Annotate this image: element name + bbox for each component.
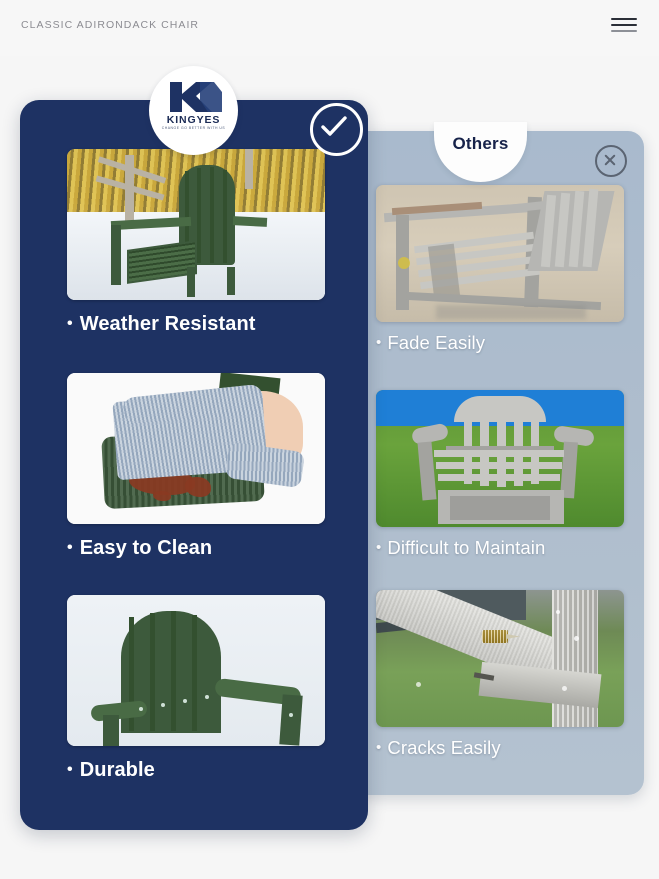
- close-circle-icon: [595, 145, 627, 177]
- feature-photo-durable: [67, 595, 325, 746]
- bullet-dot: •: [376, 739, 381, 756]
- hamburger-menu-icon[interactable]: [611, 18, 637, 34]
- check-circle-icon: [310, 103, 363, 156]
- label-text: Easy to Clean: [80, 537, 212, 559]
- list-item[interactable]: •Difficult to Maintain: [376, 390, 624, 559]
- bullet-dot: •: [67, 315, 73, 332]
- list-item[interactable]: •Fade Easily: [376, 185, 624, 354]
- others-panel: •Fade Easily: [351, 131, 644, 795]
- label-text: Cracks Easily: [387, 737, 500, 758]
- label-text: Weather Resistant: [80, 313, 256, 335]
- brand-logo-badge: KINGYES CHANGE GO BETTER WITH US: [149, 66, 238, 155]
- feature-photo-weather: [67, 149, 325, 300]
- list-item[interactable]: •Durable: [67, 595, 325, 782]
- product-comparison-page: CLASSIC ADIRONDACK CHAIR: [0, 0, 659, 879]
- kingyes-panel: •Weather Resistant: [20, 100, 368, 830]
- bullet-dot: •: [67, 761, 73, 778]
- feature-label: •Durable: [67, 759, 325, 782]
- list-item[interactable]: •Easy to Clean: [67, 373, 325, 560]
- others-tab-label: Others: [453, 134, 509, 154]
- others-feature-label: •Cracks Easily: [376, 737, 624, 759]
- others-photo-cracks: [376, 590, 624, 727]
- others-feature-label: •Fade Easily: [376, 332, 624, 354]
- label-text: Durable: [80, 759, 155, 781]
- brand-name: KINGYES: [149, 114, 238, 126]
- kingyes-monogram-icon: [166, 80, 222, 114]
- feature-label: •Easy to Clean: [67, 537, 325, 560]
- list-item[interactable]: •Cracks Easily: [376, 590, 624, 759]
- brand-tagline: CHANGE GO BETTER WITH US: [149, 126, 238, 130]
- label-text: Difficult to Maintain: [387, 537, 545, 558]
- others-photo-fade: [376, 185, 624, 322]
- label-text: Fade Easily: [387, 332, 485, 353]
- feature-label: •Weather Resistant: [67, 313, 325, 336]
- feature-photo-clean: [67, 373, 325, 524]
- bullet-dot: •: [376, 539, 381, 556]
- page-title: CLASSIC ADIRONDACK CHAIR: [21, 19, 199, 31]
- page-header: CLASSIC ADIRONDACK CHAIR: [0, 0, 659, 56]
- others-feature-label: •Difficult to Maintain: [376, 537, 624, 559]
- others-photo-maintain: [376, 390, 624, 527]
- bullet-dot: •: [376, 334, 381, 351]
- bullet-dot: •: [67, 539, 73, 556]
- list-item[interactable]: •Weather Resistant: [67, 149, 325, 336]
